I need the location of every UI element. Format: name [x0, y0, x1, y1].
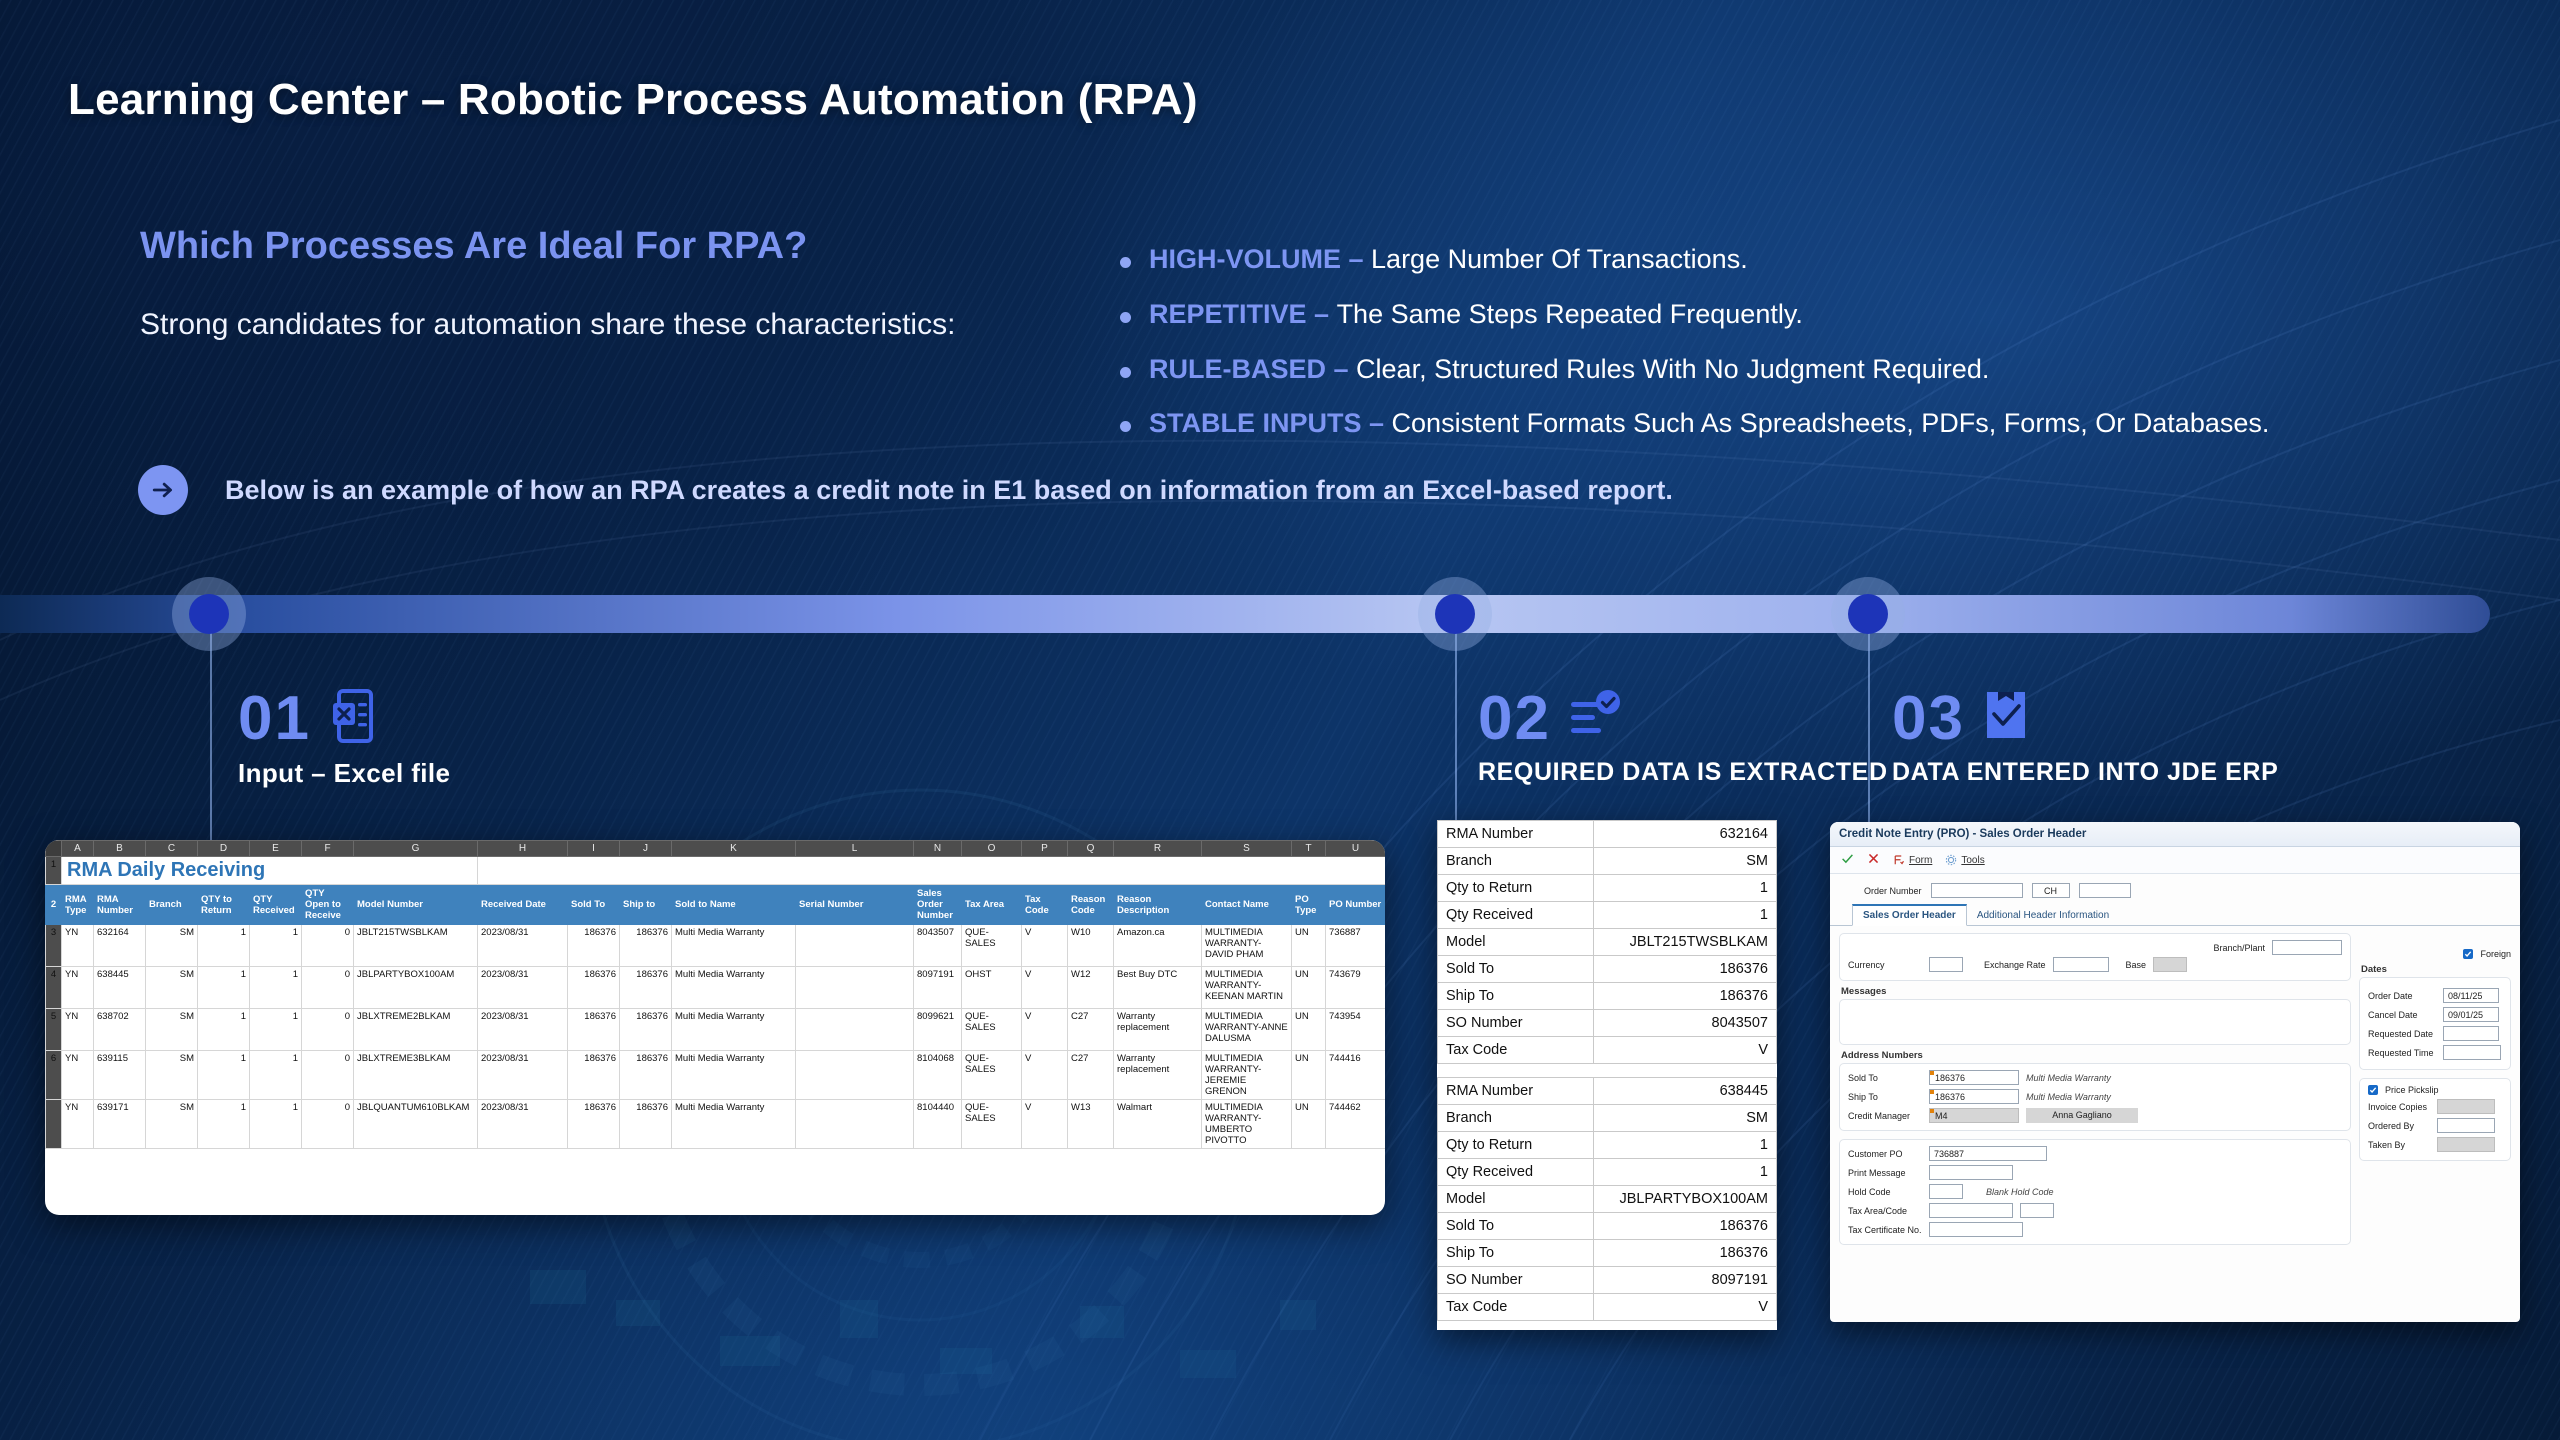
cell-po-number[interactable]: 743954	[1326, 1009, 1386, 1051]
col-T[interactable]: T	[1292, 841, 1326, 857]
field-value: 186376	[1593, 983, 1776, 1010]
cell-contact-name[interactable]: MULTIMEDIA WARRANTY-DAVID PHAM	[1202, 925, 1292, 967]
cell-qty-received[interactable]: 1	[250, 1009, 302, 1051]
extracted-data-panel[interactable]: RMA Number632164 BranchSM Qty to Return1…	[1437, 820, 1777, 1330]
bullet-desc: Clear, Structured Rules With No Judgment…	[1356, 354, 1989, 384]
step-2: 02 REQUIRED DATA IS EXTRACTED	[1478, 683, 1888, 787]
messages-label: Messages	[1841, 986, 2351, 997]
col-U[interactable]: U	[1326, 841, 1386, 857]
cell-sold-to[interactable]: 186376	[568, 967, 620, 1009]
list-check-icon	[1567, 689, 1623, 748]
cell-ship-to[interactable]: 186376	[620, 925, 672, 967]
cell-po-type[interactable]: UN	[1292, 967, 1326, 1009]
cell-qty-open[interactable]: 0	[302, 1100, 354, 1149]
field-label: Qty Received	[1438, 902, 1594, 929]
th-po-type: PO Type	[1292, 885, 1326, 925]
cell-tax-area[interactable]: QUE-SALES	[962, 1009, 1022, 1051]
section-subhead: Strong candidates for automation share t…	[140, 305, 1020, 345]
cell-po-type[interactable]: UN	[1292, 1100, 1326, 1149]
col-P[interactable]: P	[1022, 841, 1068, 857]
cell-sales-order-number[interactable]: 8043507	[914, 925, 962, 967]
invoice-copies-row: Invoice Copies	[2368, 1099, 2502, 1114]
table-row: RMA Number638445	[1438, 1078, 1777, 1105]
bullet-text: REPETITIVE – The Same Steps Repeated Fre…	[1149, 298, 1803, 332]
cell-tax-code[interactable]: V	[1022, 967, 1068, 1009]
sold-to-input[interactable]: 186376	[1929, 1070, 2019, 1085]
cell-qty-open[interactable]: 0	[302, 967, 354, 1009]
cell-sold-to-name[interactable]: Multi Media Warranty	[672, 1100, 796, 1149]
list-item: RULE-BASED – Clear, Structured Rules Wit…	[1120, 353, 2470, 387]
callout-text: Below is an example of how an RPA create…	[225, 475, 1673, 506]
cell-reason-description[interactable]: Warranty replacement	[1114, 1009, 1202, 1051]
cell-ship-to[interactable]: 186376	[620, 1009, 672, 1051]
cell-rma-number[interactable]: 639115	[94, 1051, 146, 1100]
field-label: Qty Received	[1438, 1159, 1594, 1186]
cell-po-type[interactable]: UN	[1292, 1051, 1326, 1100]
field-value: 1	[1593, 902, 1776, 929]
ok-check-icon[interactable]	[1841, 852, 1854, 868]
bullet-key: REPETITIVE	[1149, 299, 1307, 329]
cell-rma-number[interactable]: 638445	[94, 967, 146, 1009]
branch-plant-input[interactable]	[2272, 940, 2342, 955]
timeline-stem	[1455, 630, 1457, 825]
clipboard-check-icon	[1981, 688, 2031, 749]
cell-qty-to-return[interactable]: 1	[198, 1100, 250, 1149]
col-R[interactable]: R	[1114, 841, 1202, 857]
tax-certificate-input[interactable]	[1929, 1222, 2023, 1237]
row-number[interactable]: 2	[46, 885, 62, 925]
currency-input[interactable]	[1929, 957, 1963, 972]
currency-panel: Branch/Plant Currency Exchange Rate Base	[1839, 933, 2351, 981]
cell-tax-code[interactable]: V	[1022, 1051, 1068, 1100]
table-row: Qty Received1	[1438, 1159, 1777, 1186]
taken-by-row: Taken By	[2368, 1137, 2502, 1152]
cell-qty-to-return[interactable]: 1	[198, 1009, 250, 1051]
row-number[interactable]: 5	[46, 1009, 62, 1051]
step-caption: Input – Excel file	[238, 758, 450, 789]
col-S[interactable]: S	[1202, 841, 1292, 857]
col-D[interactable]: D	[198, 841, 250, 857]
cell-tax-area[interactable]: QUE-SALES	[962, 925, 1022, 967]
cell-reason-code[interactable]: W13	[1068, 1100, 1114, 1149]
bullet-dash: –	[1326, 354, 1356, 384]
order-number-label: Order Number	[1864, 886, 1922, 896]
cell-serial-number[interactable]	[796, 925, 914, 967]
cell-reason-code[interactable]: W10	[1068, 925, 1114, 967]
bullet-text: HIGH-VOLUME – Large Number Of Transactio…	[1149, 243, 1748, 277]
foreign-label: Foreign	[2480, 949, 2511, 959]
cell-branch[interactable]: SM	[146, 967, 198, 1009]
field-value: 1	[1593, 1132, 1776, 1159]
timeline-stem	[210, 630, 212, 840]
row-number[interactable]	[46, 1100, 62, 1149]
field-value: 186376	[1593, 1240, 1776, 1267]
bullet-dash: –	[1341, 244, 1371, 274]
cell-sold-to-name[interactable]: Multi Media Warranty	[672, 967, 796, 1009]
cancel-date-label: Cancel Date	[2368, 1010, 2436, 1020]
th-reason-code: Reason Code	[1068, 885, 1114, 925]
table-row: Ship To186376	[1438, 983, 1777, 1010]
row-number[interactable]: 1	[46, 857, 62, 885]
col-E[interactable]: E	[250, 841, 302, 857]
row-number[interactable]: 6	[46, 1051, 62, 1100]
table-row: ModelJBLT215TWSBLKAM	[1438, 929, 1777, 956]
col-I[interactable]: I	[568, 841, 620, 857]
bullet-desc: Large Number Of Transactions.	[1371, 244, 1748, 274]
branch-plant-label: Branch/Plant	[2213, 943, 2265, 953]
arrow-right-icon	[138, 465, 188, 515]
field-label: SO Number	[1438, 1267, 1594, 1294]
cell-ship-to[interactable]: 186376	[620, 1051, 672, 1100]
ship-to-desc: Multi Media Warranty	[2026, 1092, 2111, 1102]
step-caption: REQUIRED DATA IS EXTRACTED	[1478, 758, 1888, 787]
cell-qty-received[interactable]: 1	[250, 1051, 302, 1100]
table-row[interactable]: 3 YN 632164 SM 1 1 0 JBLT215TWSBLKAM 202…	[46, 925, 1386, 967]
address-row: Ship To 186376 Multi Media Warranty	[1848, 1089, 2342, 1104]
cell-qty-open[interactable]: 0	[302, 1051, 354, 1100]
cell-received-date[interactable]: 2023/08/31	[478, 1100, 568, 1149]
th-qty-open: QTY Open to Receive	[302, 885, 354, 925]
col-L[interactable]: L	[796, 841, 914, 857]
cell-reason-description[interactable]: Amazon.ca	[1114, 925, 1202, 967]
print-message-input[interactable]	[1929, 1165, 2013, 1180]
cell-serial-number[interactable]	[796, 1009, 914, 1051]
cell-qty-to-return[interactable]: 1	[198, 967, 250, 1009]
cell-branch[interactable]: SM	[146, 925, 198, 967]
bullet-dot-icon	[1120, 421, 1131, 432]
requested-time-row: Requested Time	[2368, 1045, 2502, 1060]
cell-serial-number[interactable]	[796, 1100, 914, 1149]
field-value: V	[1593, 1294, 1776, 1321]
exchange-rate-label: Exchange Rate	[1984, 960, 2046, 970]
field-value: JBLT215TWSBLKAM	[1593, 929, 1776, 956]
cell-qty-to-return[interactable]: 1	[198, 1051, 250, 1100]
cell-rma-type[interactable]: YN	[62, 967, 94, 1009]
jde-credit-note-window[interactable]: Credit Note Entry (PRO) - Sales Order He…	[1830, 822, 2520, 1322]
table-row: Sold To186376	[1438, 1213, 1777, 1240]
th-serial-number: Serial Number	[796, 885, 914, 925]
order-company-input[interactable]	[2079, 883, 2131, 898]
cell-contact-name[interactable]: MULTIMEDIA WARRANTY-ANNE DALUSMA	[1202, 1009, 1292, 1051]
field-value: JBLPARTYBOX100AM	[1593, 1186, 1776, 1213]
col-Q[interactable]: Q	[1068, 841, 1114, 857]
cancel-date-row: Cancel Date 09/01/25	[2368, 1007, 2502, 1022]
cell-contact-name[interactable]: MULTIMEDIA WARRANTY-KEENAN MARTIN	[1202, 967, 1292, 1009]
field-value: 632164	[1593, 821, 1776, 848]
th-ship-to: Ship to	[620, 885, 672, 925]
excel-header-row: 2 RMA Type RMA Number Branch QTY to Retu…	[46, 885, 1386, 925]
excel-title-row: 1 RMA Daily Receiving	[46, 857, 1386, 885]
requested-date-label: Requested Date	[2368, 1029, 2436, 1039]
table-row[interactable]: 4 YN 638445 SM 1 1 0 JBLPARTYBOX100AM 20…	[46, 967, 1386, 1009]
jde-tab-bar[interactable]: Sales Order Header Additional Header Inf…	[1830, 904, 2520, 926]
th-reason-description: Reason Description	[1114, 885, 1202, 925]
field-value: 1	[1593, 875, 1776, 902]
cell-sold-to[interactable]: 186376	[568, 925, 620, 967]
th-sales-order-number: Sales Order Number	[914, 885, 962, 925]
jde-toolbar[interactable]: Form Tools	[1830, 847, 2520, 874]
cell-tax-code[interactable]: V	[1022, 1100, 1068, 1149]
col-H[interactable]: H	[478, 841, 568, 857]
block-separator	[1438, 1064, 1777, 1078]
cell-model-number[interactable]: JBLXTREME2BLKAM	[354, 1009, 478, 1051]
jde-order-number-row: Order Number CH	[1830, 874, 2520, 904]
list-item: STABLE INPUTS – Consistent Formats Such …	[1120, 407, 2470, 441]
excel-file-icon	[327, 687, 381, 750]
field-label: Ship To	[1438, 1240, 1594, 1267]
field-label: RMA Number	[1438, 1078, 1594, 1105]
table-row: Qty to Return1	[1438, 875, 1777, 902]
cell-rma-type[interactable]: YN	[62, 1100, 94, 1149]
cell-tax-code[interactable]: V	[1022, 925, 1068, 967]
excel-sheet[interactable]: A B C D E F G H I J K L N O P Q R S T U	[45, 840, 1385, 1215]
tax-certificate-row: Tax Certificate No.	[1848, 1222, 2342, 1237]
order-date-label: Order Date	[2368, 991, 2436, 1001]
cell-contact-name[interactable]: MULTIMEDIA WARRANTY-JEREMIE GRENON	[1202, 1051, 1292, 1100]
cell-sold-to-name[interactable]: Multi Media Warranty	[672, 1051, 796, 1100]
cell-po-number[interactable]: 743679	[1326, 967, 1386, 1009]
cell-received-date[interactable]: 2023/08/31	[478, 1009, 568, 1051]
bullet-dash: –	[1362, 408, 1392, 438]
field-label: RMA Number	[1438, 821, 1594, 848]
foreign-checkbox[interactable]	[2463, 949, 2473, 959]
dates-label: Dates	[2361, 964, 2511, 975]
cell-po-number[interactable]: 744416	[1326, 1051, 1386, 1100]
cell-tax-area[interactable]: QUE-SALES	[962, 1100, 1022, 1149]
cell-received-date[interactable]: 2023/08/31	[478, 1051, 568, 1100]
excel-grid[interactable]: A B C D E F G H I J K L N O P Q R S T U	[45, 840, 1385, 1149]
hold-code-input[interactable]	[1929, 1184, 1963, 1199]
dates-panel: Order Date 08/11/25 Cancel Date 09/01/25…	[2359, 977, 2511, 1070]
col-G[interactable]: G	[354, 841, 478, 857]
bullet-key: RULE-BASED	[1149, 354, 1326, 384]
table-row: Sold To186376	[1438, 956, 1777, 983]
cell-reason-code[interactable]: W12	[1068, 967, 1114, 1009]
field-value: 1	[1593, 1159, 1776, 1186]
timeline-node-3	[1831, 577, 1905, 651]
order-type-input[interactable]: CH	[2032, 883, 2070, 898]
print-message-row: Print Message	[1848, 1165, 2342, 1180]
ordered-by-input[interactable]	[2437, 1118, 2495, 1133]
cell-contact-name[interactable]: MULTIMEDIA WARRANTY-UMBERTO PIVOTTO	[1202, 1100, 1292, 1149]
row-number[interactable]: 3	[46, 925, 62, 967]
tax-code-input[interactable]	[2020, 1203, 2054, 1218]
col-O[interactable]: O	[962, 841, 1022, 857]
requested-date-input[interactable]	[2443, 1026, 2499, 1041]
cell-sales-order-number[interactable]: 8104068	[914, 1051, 962, 1100]
cell-qty-open[interactable]: 0	[302, 1009, 354, 1051]
cell-reason-description[interactable]: Walmart	[1114, 1100, 1202, 1149]
cell-po-type[interactable]: UN	[1292, 1009, 1326, 1051]
step-1: 01 Input – Excel file	[238, 683, 450, 789]
timeline-bar	[0, 595, 2490, 633]
cell-branch[interactable]: SM	[146, 1009, 198, 1051]
cell-po-number[interactable]: 744462	[1326, 1100, 1386, 1149]
bullet-dot-icon	[1120, 312, 1131, 323]
cell-reason-description[interactable]: Warranty replacement	[1114, 1051, 1202, 1100]
bullet-desc: The Same Steps Repeated Frequently.	[1337, 299, 1803, 329]
cell-tax-area[interactable]: OHST	[962, 967, 1022, 1009]
tab-sales-order-header[interactable]: Sales Order Header	[1852, 904, 1967, 926]
form-button[interactable]: Form	[1893, 854, 1932, 867]
bullet-dash: –	[1307, 299, 1337, 329]
cell-tax-area[interactable]: QUE-SALES	[962, 1051, 1022, 1100]
price-pickslip-checkbox[interactable]	[2368, 1085, 2378, 1095]
th-rma-type: RMA Type	[62, 885, 94, 925]
field-value: 8097191	[1593, 1267, 1776, 1294]
cell-sales-order-number[interactable]: 8099621	[914, 1009, 962, 1051]
field-label: Ship To	[1438, 983, 1594, 1010]
address-numbers-label: Address Numbers	[1841, 1050, 2351, 1061]
cell-rma-type[interactable]: YN	[62, 1051, 94, 1100]
cancel-date-input[interactable]: 09/01/25	[2443, 1007, 2499, 1022]
cell-qty-open[interactable]: 0	[302, 925, 354, 967]
taken-by-input[interactable]	[2437, 1137, 2495, 1152]
credit-manager-desc: Anna Gagliano	[2026, 1108, 2138, 1123]
order-number-input[interactable]	[1931, 883, 2023, 898]
cell-rma-number[interactable]: 632164	[94, 925, 146, 967]
col-N[interactable]: N	[914, 841, 962, 857]
invoice-copies-input[interactable]	[2437, 1099, 2495, 1114]
col-F[interactable]: F	[302, 841, 354, 857]
field-value: 8043507	[1593, 1010, 1776, 1037]
cell-reason-code[interactable]: C27	[1068, 1009, 1114, 1051]
cell-model-number[interactable]: JBLT215TWSBLKAM	[354, 925, 478, 967]
col-C[interactable]: C	[146, 841, 198, 857]
cancel-x-icon[interactable]	[1867, 852, 1880, 868]
table-row: Ship To186376	[1438, 1240, 1777, 1267]
tools-button[interactable]: Tools	[1945, 854, 1984, 866]
cell-model-number[interactable]: JBLQUANTUM610BLKAM	[354, 1100, 478, 1149]
jde-right-column: Foreign Dates Order Date 08/11/25 Cancel…	[2359, 933, 2511, 1245]
table-row: SO Number8043507	[1438, 1010, 1777, 1037]
cell-reason-code[interactable]: C27	[1068, 1051, 1114, 1100]
cell-sales-order-number[interactable]: 8104440	[914, 1100, 962, 1149]
messages-box[interactable]	[1839, 999, 2351, 1045]
table-row: SO Number8097191	[1438, 1267, 1777, 1294]
cell-sold-to-name[interactable]: Multi Media Warranty	[672, 925, 796, 967]
step-number: 03	[1892, 683, 1965, 754]
cell-qty-received[interactable]: 1	[250, 967, 302, 1009]
bullet-desc: Consistent Formats Such As Spreadsheets,…	[1392, 408, 2270, 438]
field-value: 638445	[1593, 1078, 1776, 1105]
cell-rma-type[interactable]: YN	[62, 925, 94, 967]
cell-qty-received[interactable]: 1	[250, 925, 302, 967]
th-contact-name: Contact Name	[1202, 885, 1292, 925]
cell-received-date[interactable]: 2023/08/31	[478, 967, 568, 1009]
excel-window[interactable]: A B C D E F G H I J K L N O P Q R S T U	[45, 840, 1385, 1215]
table-row[interactable]: YN 639171 SM 1 1 0 JBLQUANTUM610BLKAM 20…	[46, 1100, 1386, 1149]
cell-sold-to-name[interactable]: Multi Media Warranty	[672, 1009, 796, 1051]
cell-ship-to[interactable]: 186376	[620, 967, 672, 1009]
cell-rma-number[interactable]: 638702	[94, 1009, 146, 1051]
order-date-input[interactable]: 08/11/25	[2443, 988, 2499, 1003]
ship-to-label: Ship To	[1848, 1092, 1922, 1102]
cell-received-date[interactable]: 2023/08/31	[478, 925, 568, 967]
cell-rma-number[interactable]: 639171	[94, 1100, 146, 1149]
th-branch: Branch	[146, 885, 198, 925]
price-pickslip-label: Price Pickslip	[2385, 1085, 2439, 1095]
exchange-rate-input[interactable]	[2053, 957, 2109, 972]
field-value: V	[1593, 1037, 1776, 1064]
base-input[interactable]	[2153, 957, 2187, 972]
bullet-dot-icon	[1120, 257, 1131, 268]
cell-branch[interactable]: SM	[146, 1051, 198, 1100]
sold-to-desc: Multi Media Warranty	[2026, 1073, 2111, 1083]
cell-po-type[interactable]: UN	[1292, 925, 1326, 967]
table-row[interactable]: 5 YN 638702 SM 1 1 0 JBLXTREME2BLKAM 202…	[46, 1009, 1386, 1051]
table-row: BranchSM	[1438, 1105, 1777, 1132]
cell-branch[interactable]: SM	[146, 1100, 198, 1149]
col-J[interactable]: J	[620, 841, 672, 857]
cell-sold-to[interactable]: 186376	[568, 1051, 620, 1100]
cell-serial-number[interactable]	[796, 967, 914, 1009]
cell-sold-to[interactable]: 186376	[568, 1009, 620, 1051]
table-row: Tax CodeV	[1438, 1294, 1777, 1321]
price-pickslip-row: Price Pickslip	[2368, 1085, 2502, 1095]
list-item: REPETITIVE – The Same Steps Repeated Fre…	[1120, 298, 2470, 332]
table-row[interactable]: 6 YN 639115 SM 1 1 0 JBLXTREME3BLKAM 202…	[46, 1051, 1386, 1100]
section-headline: Which Processes Are Ideal For RPA?	[140, 225, 807, 268]
field-label: Sold To	[1438, 1213, 1594, 1240]
field-label: Model	[1438, 1186, 1594, 1213]
jde-window-title: Credit Note Entry (PRO) - Sales Order He…	[1830, 822, 2520, 847]
field-label: Sold To	[1438, 956, 1594, 983]
timeline-node-2	[1418, 577, 1492, 651]
tab-additional-header-information[interactable]: Additional Header Information	[1967, 906, 2119, 925]
credit-manager-input[interactable]: M4	[1929, 1108, 2019, 1123]
customer-po-input[interactable]: 736887	[1929, 1146, 2047, 1161]
jde-form-body: Branch/Plant Currency Exchange Rate Base…	[1830, 926, 2520, 1245]
customer-po-label: Customer PO	[1848, 1149, 1922, 1159]
cell-rma-type[interactable]: YN	[62, 1009, 94, 1051]
form-label: Form	[1909, 855, 1932, 866]
cell-serial-number[interactable]	[796, 1051, 914, 1100]
page-title: Learning Center – Robotic Process Automa…	[68, 75, 1198, 125]
credit-manager-label: Credit Manager	[1848, 1111, 1922, 1121]
cell-model-number[interactable]: JBLXTREME3BLKAM	[354, 1051, 478, 1100]
table-row: Qty to Return1	[1438, 1132, 1777, 1159]
col-K[interactable]: K	[672, 841, 796, 857]
field-label: Tax Code	[1438, 1294, 1594, 1321]
taken-by-label: Taken By	[2368, 1140, 2430, 1150]
cell-ship-to[interactable]: 186376	[620, 1100, 672, 1149]
address-row: Credit Manager M4 Anna Gagliano	[1848, 1108, 2342, 1123]
list-item: HIGH-VOLUME – Large Number Of Transactio…	[1120, 243, 2470, 277]
col-A[interactable]: A	[62, 841, 94, 857]
tools-label: Tools	[1961, 855, 1984, 866]
tax-area-input[interactable]	[1929, 1203, 2013, 1218]
table-row: ModelJBLPARTYBOX100AM	[1438, 1186, 1777, 1213]
field-label: Model	[1438, 929, 1594, 956]
col-B[interactable]: B	[94, 841, 146, 857]
cell-sales-order-number[interactable]: 8097191	[914, 967, 962, 1009]
ship-to-input[interactable]: 186376	[1929, 1089, 2019, 1104]
th-qty-to-return: QTY to Return	[198, 885, 250, 925]
field-value: 186376	[1593, 956, 1776, 983]
cell-reason-description[interactable]: Best Buy DTC	[1114, 967, 1202, 1009]
cell-tax-code[interactable]: V	[1022, 1009, 1068, 1051]
row-number[interactable]: 4	[46, 967, 62, 1009]
cell-sold-to[interactable]: 186376	[568, 1100, 620, 1149]
requested-time-input[interactable]	[2443, 1045, 2501, 1060]
cell-po-number[interactable]: 736887	[1326, 925, 1386, 967]
cell-qty-received[interactable]: 1	[250, 1100, 302, 1149]
step-caption: DATA ENTERED INTO JDE ERP	[1892, 758, 2278, 787]
tax-area-code-label: Tax Area/Code	[1848, 1206, 1922, 1216]
cell-qty-to-return[interactable]: 1	[198, 925, 250, 967]
cell-model-number[interactable]: JBLPARTYBOX100AM	[354, 967, 478, 1009]
